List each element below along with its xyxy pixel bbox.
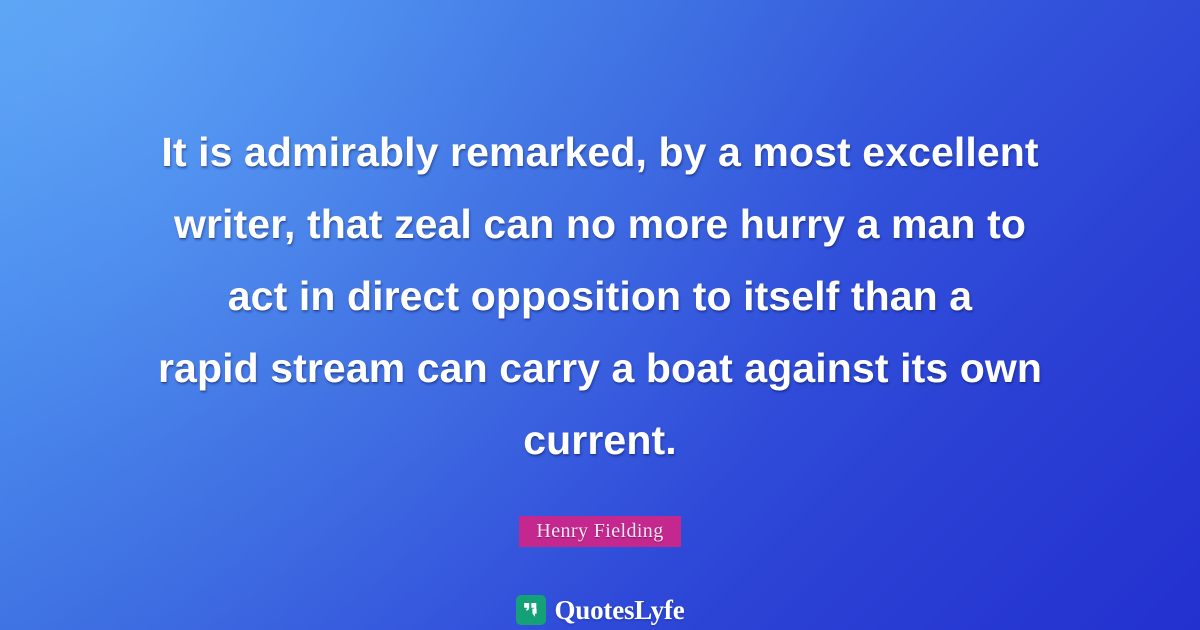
quote-text: It is admirably remarked, by a most exce… [85, 116, 1115, 476]
author-badge: Henry Fielding [519, 516, 680, 547]
quote-line: current. [85, 404, 1115, 476]
quote-card: It is admirably remarked, by a most exce… [0, 0, 1200, 630]
quote-bubble-icon [516, 595, 546, 625]
quote-line: rapid stream can carry a boat against it… [85, 332, 1115, 404]
quote-line: writer, that zeal can no more hurry a ma… [85, 188, 1115, 260]
brand-name: QuotesLyfe [555, 597, 685, 624]
brand-logo[interactable]: QuotesLyfe [516, 595, 685, 625]
quote-line: It is admirably remarked, by a most exce… [85, 116, 1115, 188]
quote-line: act in direct opposition to itself than … [85, 260, 1115, 332]
